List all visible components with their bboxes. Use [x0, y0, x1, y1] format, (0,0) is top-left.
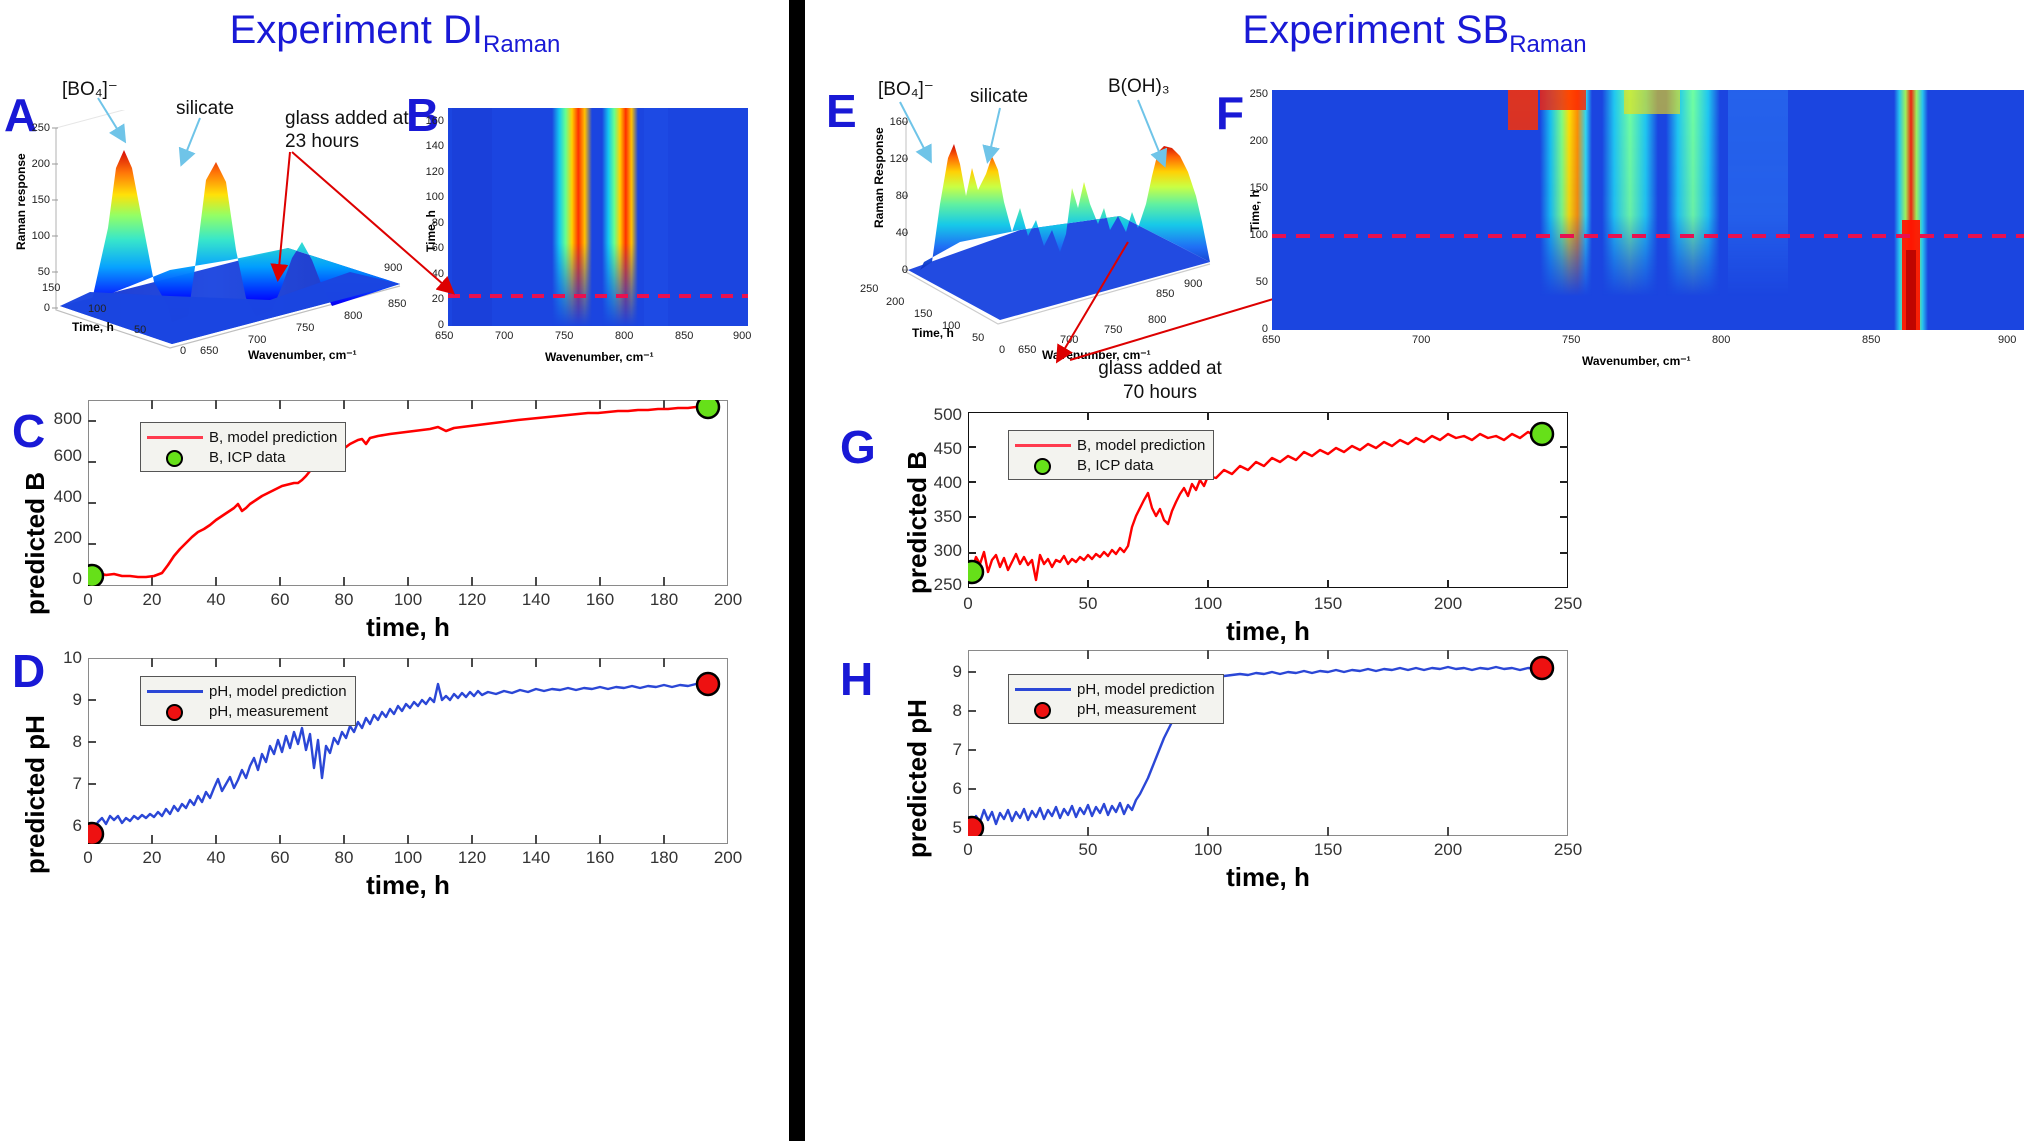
panel-c-xtick-40: 40	[200, 590, 232, 610]
panel-d-ytick-10: 10	[34, 648, 82, 668]
panel-g-xlabel: time, h	[1148, 616, 1388, 647]
legend-line-swatch-red	[147, 430, 203, 444]
panel-g-ytick-350: 350	[920, 507, 962, 527]
panel-g-legend-row-icp: B, ICP data	[1015, 455, 1205, 475]
silicate-arrow	[182, 118, 200, 163]
boh3-arrow-e	[1138, 100, 1164, 164]
panel-d-xtick-100: 100	[392, 848, 424, 868]
panel-g-ytick-500: 500	[920, 405, 962, 425]
panel-f-ylabel: Time, h	[1248, 190, 1262, 232]
panel-d-ph-point-start	[88, 823, 103, 844]
panel-c-ytick-800: 800	[40, 409, 82, 429]
panel-h-ph-point-start	[968, 817, 983, 836]
panel-a-xlabel-wavenumber: Wavenumber, cm⁻¹	[248, 348, 357, 362]
panel-b-xlabel: Wavenumber, cm⁻¹	[545, 350, 654, 364]
panel-c-xtick-160: 160	[584, 590, 616, 610]
panel-d-legend-row-measure: pH, measurement	[147, 701, 347, 721]
panel-h-plot: predicted pH 5 6 7 8 9 pH, model	[880, 648, 2000, 878]
panel-h-legend-label-model: pH, model prediction	[1077, 681, 1215, 698]
panel-b-glass-arrow	[280, 140, 530, 310]
panel-g-legend-label-icp: B, ICP data	[1077, 457, 1153, 474]
panel-h-ytick-8: 8	[920, 701, 962, 721]
panel-c-xtick-140: 140	[520, 590, 552, 610]
panel-c-icp-point-start	[88, 565, 103, 586]
panel-g-xtick-100: 100	[1192, 594, 1224, 614]
legend-line-swatch-blue	[147, 684, 203, 698]
panel-h-xtick-0: 0	[952, 840, 984, 860]
panel-h-legend-row-model: pH, model prediction	[1015, 679, 1215, 699]
panel-h-ytick-6: 6	[920, 779, 962, 799]
panel-d-legend-label-measure: pH, measurement	[209, 703, 328, 720]
panel-f-xtick-700: 700	[1412, 334, 1430, 346]
panel-d-xtick-40: 40	[200, 848, 232, 868]
panel-h-xlabel: time, h	[1148, 862, 1388, 893]
panel-f-xtick-900: 900	[1998, 334, 2016, 346]
panel-h-xtick-200: 200	[1432, 840, 1464, 860]
panel-c-legend: B, model prediction B, ICP data	[140, 422, 346, 472]
panel-d-xlabel: time, h	[288, 870, 528, 901]
legend-line-swatch-red-g	[1015, 438, 1071, 452]
panel-g-xtick-250: 250	[1552, 594, 1584, 614]
panel-c-plot: predicted B 0 200 400 600 800	[0, 400, 760, 640]
panel-g-plot: predicted B 250 300 350 400 450 500	[880, 408, 2000, 638]
panel-d-ytick-9: 9	[40, 690, 82, 710]
panel-g-xtick-0: 0	[952, 594, 984, 614]
panel-f-ytick-100: 100	[1238, 229, 1268, 241]
panel-d-xtick-180: 180	[648, 848, 680, 868]
panel-g-legend-label-model: B, model prediction	[1077, 437, 1205, 454]
panel-f-xtick-850: 850	[1862, 334, 1880, 346]
panel-c-legend-label-icp: B, ICP data	[209, 449, 285, 466]
legend-dot-swatch-red-h	[1015, 702, 1071, 716]
panel-g-xtick-150: 150	[1312, 594, 1344, 614]
panel-a-time-0: 0	[180, 345, 186, 357]
panel-f-xtick-800: 800	[1712, 334, 1730, 346]
panel-d-xtick-120: 120	[456, 848, 488, 868]
panel-g-icp-point-end	[1531, 423, 1553, 445]
panel-f-ytick-150: 150	[1238, 182, 1268, 194]
right-title: Experiment SBRaman	[805, 8, 2024, 59]
panel-c-xtick-0: 0	[72, 590, 104, 610]
legend-dot-swatch-green-g	[1015, 458, 1071, 472]
panel-c-ytick-600: 600	[40, 446, 82, 466]
panel-b-xtick-900: 900	[733, 330, 751, 342]
panel-d-legend-label-model: pH, model prediction	[209, 683, 347, 700]
panel-c-xtick-180: 180	[648, 590, 680, 610]
panel-b-xtick-850: 850	[675, 330, 693, 342]
panel-label-h: H	[840, 656, 873, 702]
panel-c-ytick-200: 200	[40, 528, 82, 548]
panel-g-icp-point-start	[968, 561, 983, 583]
figure-root: Experiment DIRaman Experiment SBRaman A	[0, 0, 2024, 1141]
bo4-arrow-e	[900, 102, 930, 160]
panel-d-xtick-0: 0	[72, 848, 104, 868]
silicate-arrow-e	[988, 108, 1000, 160]
panel-h-legend: pH, model prediction pH, measurement	[1008, 674, 1224, 724]
panel-f-ytick-50: 50	[1240, 276, 1268, 288]
panel-b-xtick-650: 650	[435, 330, 453, 342]
panel-d-ytick-6: 6	[40, 816, 82, 836]
panel-d-xtick-140: 140	[520, 848, 552, 868]
panel-d-ph-point-end	[697, 673, 719, 695]
panel-d-xtick-160: 160	[584, 848, 616, 868]
panel-d-ytick-8: 8	[40, 732, 82, 752]
panel-d-xtick-60: 60	[264, 848, 296, 868]
panel-f-xlabel: Wavenumber, cm⁻¹	[1582, 354, 1691, 368]
panel-f-xtick-650: 650	[1262, 334, 1280, 346]
panel-b-xtick-800: 800	[615, 330, 633, 342]
panel-a-wn-700: 700	[248, 334, 266, 346]
panel-h-xtick-50: 50	[1072, 840, 1104, 860]
panel-h-xtick-150: 150	[1312, 840, 1344, 860]
panel-g-xtick-50: 50	[1072, 594, 1104, 614]
panel-f-xtick-750: 750	[1562, 334, 1580, 346]
panel-g-xtick-200: 200	[1432, 594, 1464, 614]
panel-f-heatmap	[1272, 90, 2024, 330]
panel-c-icp-point-end	[697, 400, 719, 418]
panel-c-xtick-20: 20	[136, 590, 168, 610]
panel-g-legend: B, model prediction B, ICP data	[1008, 430, 1214, 480]
panel-label-g: G	[840, 424, 876, 470]
panel-c-legend-row-model: B, model prediction	[147, 427, 337, 447]
panel-h-ph-point-end	[1531, 657, 1553, 679]
panel-d-xtick-200: 200	[712, 848, 744, 868]
panel-c-legend-row-icp: B, ICP data	[147, 447, 337, 467]
bo4-arrow	[98, 98, 124, 140]
right-title-sub: Raman	[1509, 31, 1586, 58]
legend-dot-swatch-green	[147, 450, 203, 464]
panel-d-legend-row-model: pH, model prediction	[147, 681, 347, 701]
panel-g-legend-row-model: B, model prediction	[1015, 435, 1205, 455]
glass-arrow-to-surface-e	[1058, 242, 1128, 360]
panel-b-xtick-750: 750	[555, 330, 573, 342]
panel-h-ytick-9: 9	[920, 662, 962, 682]
legend-dot-swatch-red	[147, 704, 203, 718]
panel-f-ytick-250: 250	[1238, 88, 1268, 100]
panel-c-xtick-100: 100	[392, 590, 424, 610]
panel-b-ytick-160: 160	[418, 115, 444, 127]
panel-c-ytick-0: 0	[40, 569, 82, 589]
panel-g-ytick-250: 250	[920, 575, 962, 595]
panel-c-xtick-200: 200	[712, 590, 744, 610]
panel-b-xtick-700: 700	[495, 330, 513, 342]
panel-c-legend-label-model: B, model prediction	[209, 429, 337, 446]
panel-g-ytick-300: 300	[920, 541, 962, 561]
panel-c-xlabel: time, h	[288, 612, 528, 643]
panel-g-ytick-450: 450	[920, 439, 962, 459]
panel-h-xtick-100: 100	[1192, 840, 1224, 860]
panel-d-xtick-80: 80	[328, 848, 360, 868]
panel-d-plot: predicted pH 6 7 8 9 10	[0, 648, 760, 888]
panel-d-xtick-20: 20	[136, 848, 168, 868]
panel-c-xtick-80: 80	[328, 590, 360, 610]
panel-c-xtick-60: 60	[264, 590, 296, 610]
panel-d-legend: pH, model prediction pH, measurement	[140, 676, 356, 726]
panel-c-xtick-120: 120	[456, 590, 488, 610]
panel-h-legend-label-measure: pH, measurement	[1077, 701, 1196, 718]
panel-f-ytick-200: 200	[1238, 135, 1268, 147]
panel-c-ytick-400: 400	[40, 487, 82, 507]
legend-line-swatch-blue-h	[1015, 682, 1071, 696]
panel-h-xtick-250: 250	[1552, 840, 1584, 860]
panel-d-ytick-7: 7	[40, 774, 82, 794]
panel-h-legend-row-measure: pH, measurement	[1015, 699, 1215, 719]
panel-a-wn-650: 650	[200, 345, 218, 357]
panel-g-ytick-400: 400	[920, 473, 962, 493]
panel-h-ytick-5: 5	[920, 818, 962, 838]
panel-h-ytick-7: 7	[920, 740, 962, 760]
right-title-main: Experiment SB	[1242, 8, 1509, 52]
